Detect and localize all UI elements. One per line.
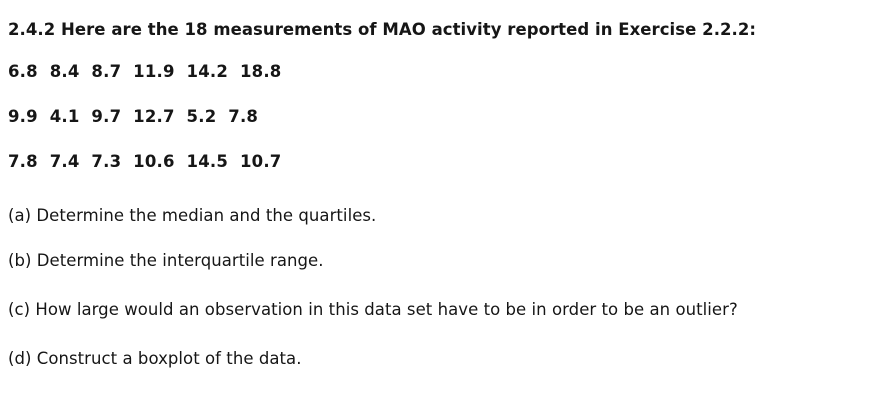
- data-row: 7.8 7.4 7.3 10.6 14.5 10.7: [8, 152, 281, 172]
- question-item-a: (a) Determine the median and the quartil…: [8, 206, 376, 226]
- question-item-d: (d) Construct a boxplot of the data.: [8, 349, 302, 369]
- data-row: 9.9 4.1 9.7 12.7 5.2 7.8: [8, 107, 258, 127]
- data-row: 6.8 8.4 8.7 11.9 14.2 18.8: [8, 62, 281, 82]
- question-item-c: (c) How large would an observation in th…: [8, 300, 738, 320]
- exercise-header: 2.4.2 Here are the 18 measurements of MA…: [8, 20, 756, 40]
- question-item-b: (b) Determine the interquartile range.: [8, 251, 324, 271]
- exercise-page: 2.4.2 Here are the 18 measurements of MA…: [0, 0, 870, 408]
